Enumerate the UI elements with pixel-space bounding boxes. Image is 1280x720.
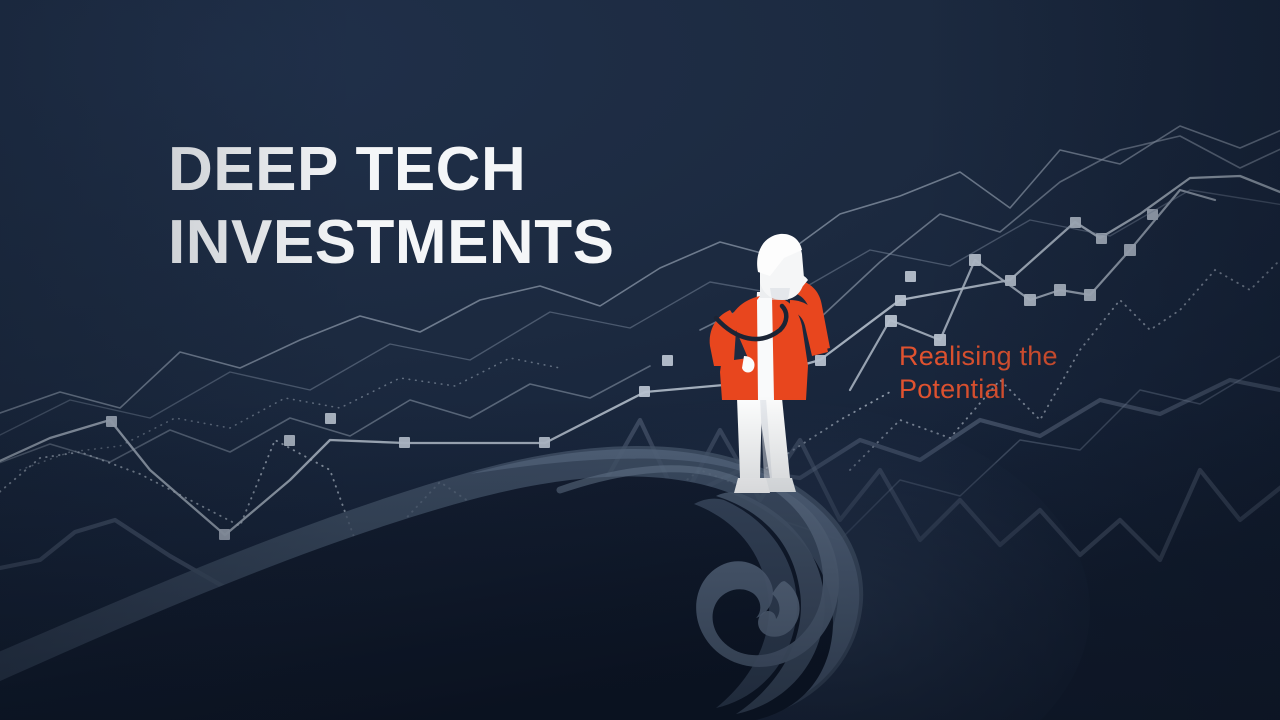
page-subtitle: Realising the Potential (899, 340, 1129, 406)
page-subtitle-line-1: Realising the (899, 340, 1129, 373)
slide-canvas: DEEP TECH INVESTMENTS Realising the Pote… (0, 0, 1280, 720)
page-title: DEEP TECH INVESTMENTS (168, 133, 788, 279)
page-title-line-1: DEEP TECH (168, 133, 788, 206)
page-subtitle-line-2: Potential (899, 373, 1129, 406)
page-title-line-2: INVESTMENTS (168, 206, 788, 279)
